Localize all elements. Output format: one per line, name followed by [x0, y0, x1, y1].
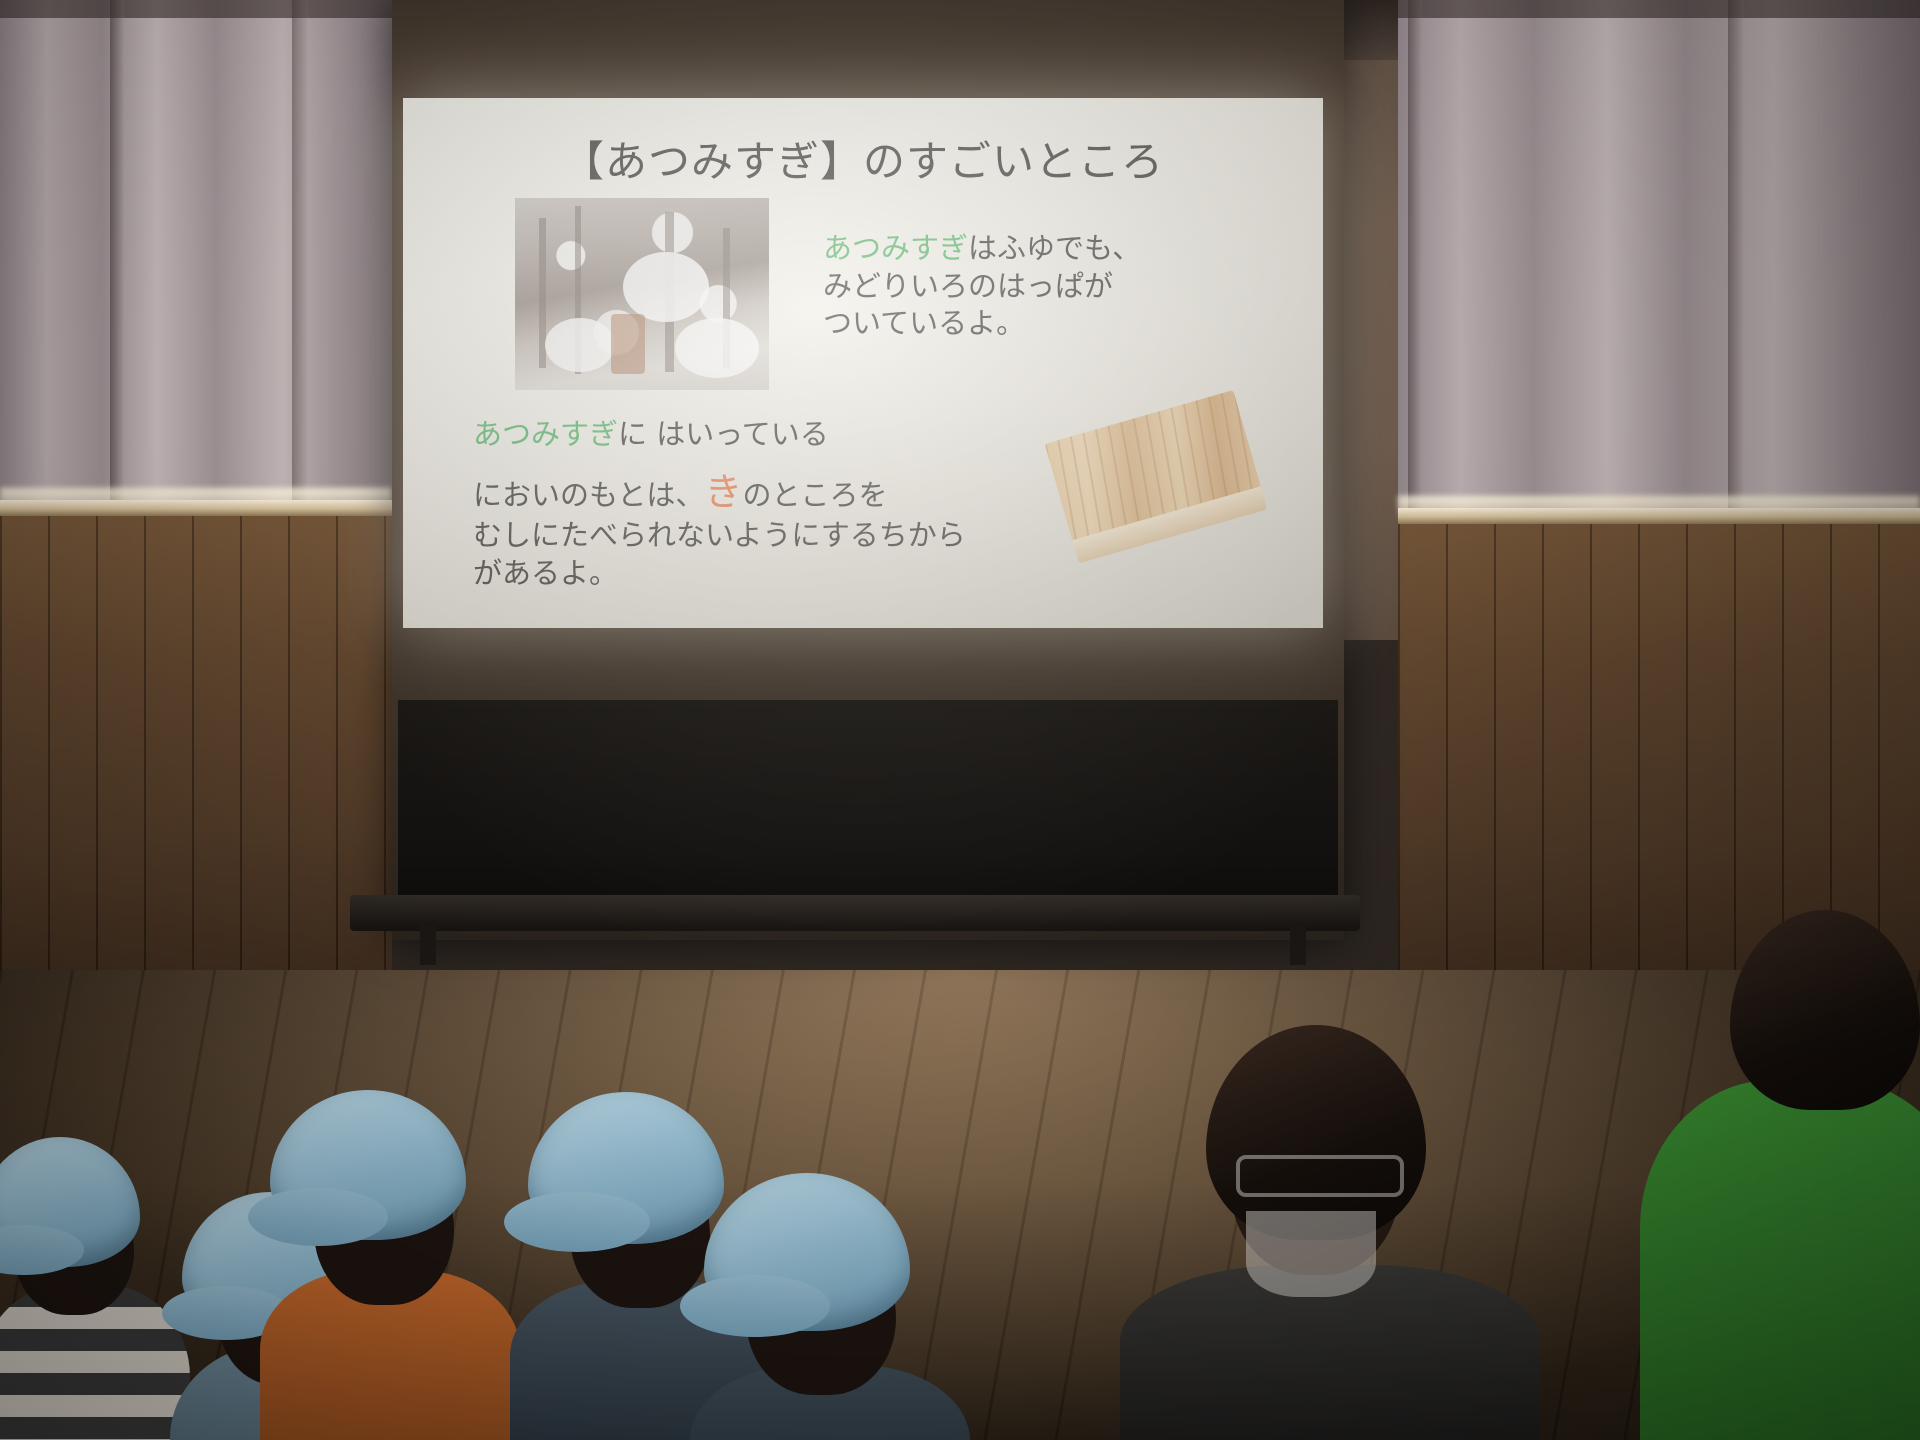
screen-base-bar	[350, 895, 1360, 931]
audience-member-green-shirt	[1640, 910, 1920, 1440]
cedar-board-photo	[1063, 398, 1259, 588]
highlight-green-text: あつみすぎ	[823, 231, 968, 265]
paragraph-bottom-line2b: のところを	[742, 478, 887, 512]
slide-title: 【あつみすぎ】のすごいところ	[403, 128, 1323, 189]
child-audience-member	[0, 1075, 180, 1440]
highlight-orange-text: き	[704, 470, 742, 514]
screen-lower-black-band	[398, 700, 1338, 915]
highlight-green-text: あつみすぎ	[473, 417, 618, 451]
window-curtain	[0, 0, 392, 500]
child-audience-member	[270, 1030, 500, 1440]
right-window-group	[1398, 0, 1920, 516]
slide-paragraph-bottom: あつみすぎに はいっている においのもとは、きのところを むしにたべられないよう…	[473, 416, 1093, 592]
wood-wall-panel	[0, 516, 392, 976]
screen-leg-right	[1290, 925, 1306, 965]
presentation-slide: 【あつみすぎ】のすごいところ あつみすぎはふゆでも、 みどりいろのはっぱが つい…	[403, 98, 1323, 628]
screen-leg-left	[420, 925, 436, 965]
curtain-rail	[0, 0, 392, 18]
paragraph-bottom-line1: に はいっている	[618, 417, 829, 451]
auditorium-scene: 【あつみすぎ】のすごいところ あつみすぎはふゆでも、 みどりいろのはっぱが つい…	[0, 0, 1920, 1440]
left-window-group	[0, 0, 392, 500]
paragraph-bottom-line3: むしにたべられないようにするちから	[473, 517, 1093, 555]
window-sill	[0, 500, 392, 516]
curtain-rail	[1398, 0, 1920, 18]
paragraph-bottom-line4: があるよ。	[473, 555, 1093, 593]
paragraph-bottom-line2a: においのもとは、	[473, 478, 704, 512]
paragraph-right-line2: みどりいろのはっぱが	[823, 268, 1223, 306]
window-sill	[1398, 508, 1920, 524]
child-audience-member	[700, 1115, 940, 1440]
eyeglasses	[1236, 1155, 1404, 1197]
paragraph-right-line3: ついているよ。	[823, 305, 1223, 343]
paragraph-right-line1: はふゆでも、	[968, 231, 1141, 265]
slide-paragraph-right: あつみすぎはふゆでも、 みどりいろのはっぱが ついているよ。	[823, 230, 1223, 343]
face-mask	[1246, 1211, 1376, 1297]
adult-audience-member	[1180, 1015, 1480, 1440]
window-curtain	[1398, 0, 1920, 516]
snow-forest-photo	[515, 198, 769, 390]
